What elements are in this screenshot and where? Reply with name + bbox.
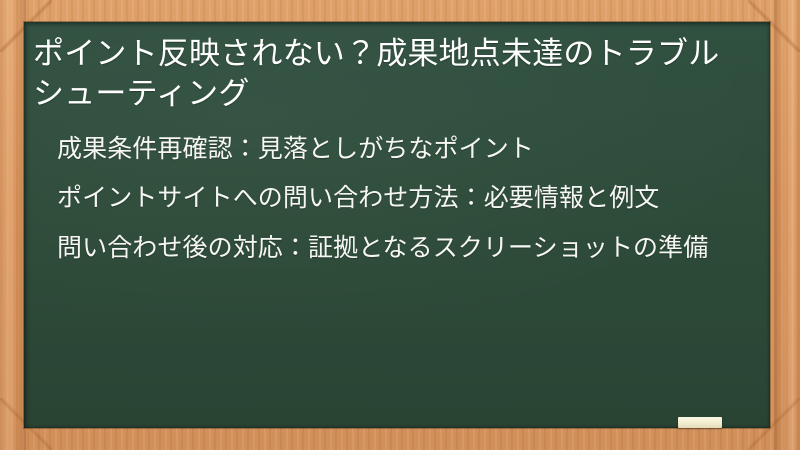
list-item: 問い合わせ後の対応：証拠となるスクリーショットの準備 (57, 232, 744, 265)
blackboard-thumbnail: ポイント反映されない？成果地点未達のトラブルシューティング 成果条件再確認：見落… (0, 0, 800, 450)
topic-list: 成果条件再確認：見落としがちなポイント ポイントサイトへの問い合わせ方法：必要情… (33, 133, 744, 265)
chalk-stick-icon (678, 417, 722, 428)
list-item: ポイントサイトへの問い合わせ方法：必要情報と例文 (57, 182, 744, 215)
chalkboard-surface: ポイント反映されない？成果地点未達のトラブルシューティング 成果条件再確認：見落… (24, 22, 770, 428)
chalkboard-content: ポイント反映されない？成果地点未達のトラブルシューティング 成果条件再確認：見落… (24, 22, 770, 428)
list-item: 成果条件再確認：見落としがちなポイント (57, 133, 744, 166)
page-title: ポイント反映されない？成果地点未達のトラブルシューティング (33, 34, 744, 115)
